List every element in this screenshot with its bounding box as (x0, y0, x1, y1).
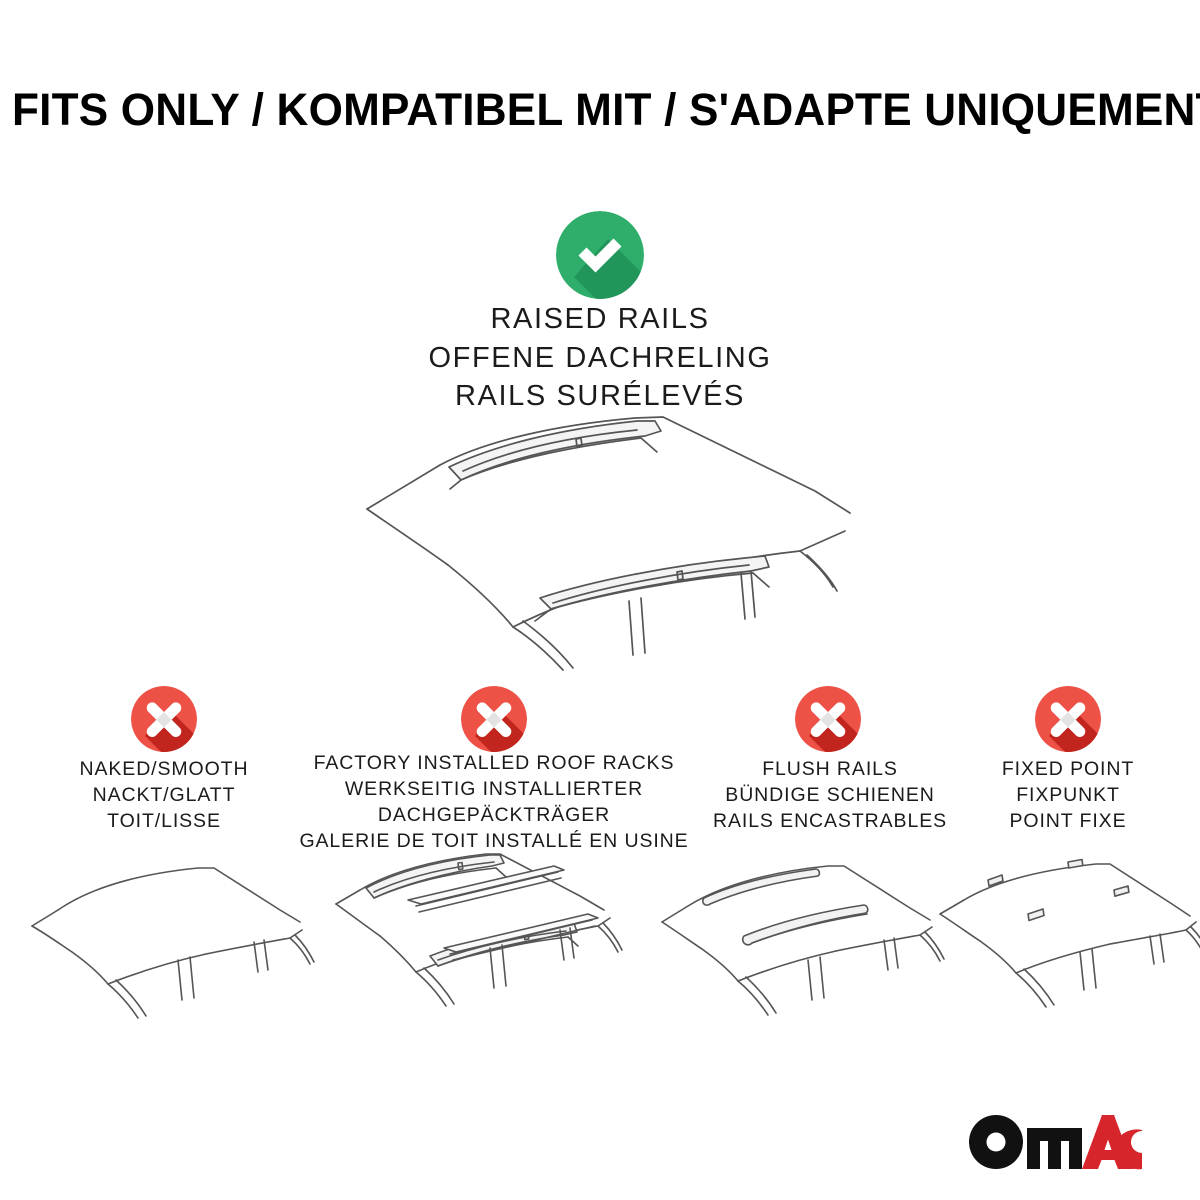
incompatible-label-0-de: NACKT/GLATT (24, 782, 304, 808)
incompatible-label-2-en: FLUSH RAILS (690, 756, 970, 782)
compatible-caption: RAISED RAILS OFFENE DACHRELING RAILS SUR… (0, 300, 1200, 416)
cross-circle-icon (461, 686, 527, 752)
incompatible-caption-naked-smooth: NAKED/SMOOTH NACKT/GLATT TOIT/LISSE (24, 756, 304, 834)
car-roof-naked-smooth-illustration (18, 848, 318, 1033)
check-circle-icon (556, 211, 644, 299)
car-roof-factory-roof-racks-illustration (308, 838, 638, 1033)
incompatible-label-3-de: FIXPUNKT (948, 782, 1188, 808)
incompatible-label-1-de-2: DACHGEPÄCKTRÄGER (294, 802, 694, 828)
page-title: FITS ONLY / KOMPATIBEL MIT / S'ADAPTE UN… (12, 84, 1188, 136)
cross-circle-icon (131, 686, 197, 752)
car-roof-raised-rails-illustration (345, 405, 855, 670)
incompatible-label-3-en: FIXED POINT (948, 756, 1188, 782)
logo-letter-o (969, 1115, 1023, 1169)
incompatible-label-0-en: NAKED/SMOOTH (24, 756, 304, 782)
compatible-label-de: OFFENE DACHRELING (0, 339, 1200, 378)
incompatible-caption-fixed-point: FIXED POINT FIXPUNKT POINT FIXE (948, 756, 1188, 834)
cross-circle-icon (1035, 686, 1101, 752)
car-roof-fixed-point-illustration (928, 848, 1200, 1033)
logo-letter-m (1027, 1128, 1082, 1169)
incompatible-label-2-de: BÜNDIGE SCHIENEN (690, 782, 970, 808)
cross-circle-icon (795, 686, 861, 752)
omac-logo (968, 1114, 1142, 1172)
incompatible-label-3-fr: POINT FIXE (948, 808, 1188, 834)
incompatible-label-0-fr: TOIT/LISSE (24, 808, 304, 834)
incompatible-label-1-en: FACTORY INSTALLED ROOF RACKS (294, 750, 694, 776)
incompatible-caption-flush-rails: FLUSH RAILS BÜNDIGE SCHIENEN RAILS ENCAS… (690, 756, 970, 834)
incompatible-label-1-de-1: WERKSEITIG INSTALLIERTER (294, 776, 694, 802)
compatible-label-en: RAISED RAILS (0, 300, 1200, 339)
incompatible-label-2-fr: RAILS ENCASTRABLES (690, 808, 970, 834)
car-roof-flush-rails-illustration (648, 848, 948, 1033)
